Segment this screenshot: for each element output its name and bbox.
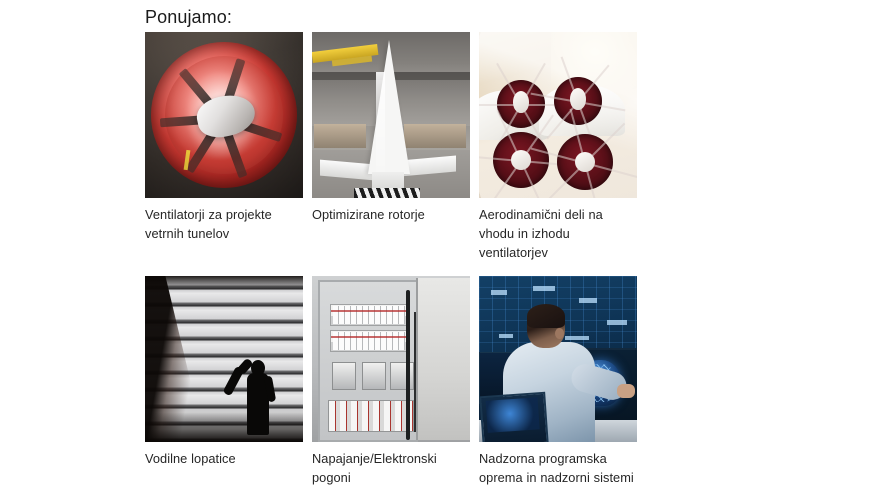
grid-row-1: Ventilatorji za projekte vetrnih tunelov: [145, 32, 637, 262]
workbench: [404, 124, 466, 148]
grid-item-caption: Aerodinamični deli na vhodu in izhodu ve…: [479, 205, 637, 262]
grid-item-caption: Nadzorna programska oprema in nadzorni s…: [479, 449, 637, 487]
grid-item-optimised-rotors[interactable]: Optimizirane rotorje: [312, 32, 470, 262]
operator-hand: [617, 384, 635, 398]
image-vignette: [145, 32, 303, 198]
control-room-image[interactable]: [479, 276, 637, 442]
terminal-block: [328, 400, 414, 432]
fan-inlet: [554, 77, 602, 125]
slide-canvas: Ponujamo: Ve: [0, 0, 890, 500]
operator-ear: [555, 328, 564, 339]
rotor-cone-image[interactable]: [312, 32, 470, 198]
contactor: [362, 362, 386, 390]
breaker-rail: [330, 330, 408, 352]
guide-vanes-image[interactable]: [145, 276, 303, 442]
laptop: [479, 392, 548, 442]
grid-item-supervisory-software[interactable]: Nadzorna programska oprema in nadzorni s…: [479, 276, 637, 487]
grid-item-caption: Ventilatorji za projekte vetrnih tunelov: [145, 205, 303, 243]
contactor: [332, 362, 356, 390]
fan-inlets-image[interactable]: [479, 32, 637, 198]
grid-item-caption: Napajanje/Elektronski pogoni: [312, 449, 470, 487]
grid-item-power-drives[interactable]: Napajanje/Elektronski pogoni: [312, 276, 470, 487]
fan-nose-cone: [570, 88, 586, 110]
contactor: [390, 362, 414, 390]
wind-tunnel-fan-image[interactable]: [145, 32, 303, 198]
laptop-screen: [486, 397, 540, 433]
grid-item-caption: Vodilne lopatice: [145, 449, 303, 468]
grid-item-caption: Optimizirane rotorje: [312, 205, 470, 224]
fan-nose-cone: [511, 150, 531, 170]
fan-inlet: [557, 134, 613, 190]
cable-conduit: [406, 290, 410, 440]
grid-item-wind-tunnel-fans[interactable]: Ventilatorji za projekte vetrnih tunelov: [145, 32, 303, 262]
cone-highlight: [376, 72, 385, 174]
workbench: [314, 124, 366, 148]
grid-row-2: Vodilne lopatice: [145, 276, 637, 487]
fan-inlet: [497, 80, 545, 128]
fan-nose-cone: [513, 91, 529, 113]
operator-hair: [527, 304, 565, 328]
fan-inlet: [493, 132, 549, 188]
breaker-rail: [330, 304, 408, 326]
fan-nose-cone: [575, 152, 595, 172]
hazard-stripes: [354, 188, 420, 198]
page-title: Ponujamo:: [145, 6, 232, 28]
electrical-cabinet-image[interactable]: [312, 276, 470, 442]
rotor-nose-cone: [368, 40, 410, 174]
top-shadow: [145, 276, 303, 290]
person-silhouette: [241, 360, 275, 434]
offering-grid: Ventilatorji za projekte vetrnih tunelov: [145, 32, 637, 487]
cabinet-body: [318, 280, 418, 442]
grid-item-guide-vanes[interactable]: Vodilne lopatice: [145, 276, 303, 487]
cabinet-door: [416, 278, 470, 440]
grid-item-aerodynamic-parts[interactable]: Aerodinamični deli na vhodu in izhodu ve…: [479, 32, 637, 262]
bottom-shadow: [145, 408, 303, 442]
